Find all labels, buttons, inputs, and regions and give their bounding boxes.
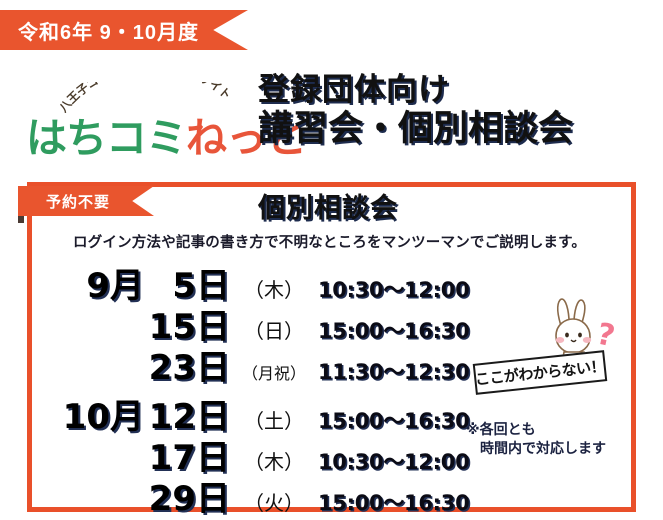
schedule-day: 23日: [144, 340, 230, 389]
schedule-time: 10:30〜12:00: [318, 446, 468, 476]
period-banner-label: 令和6年 9・10月度: [18, 16, 199, 45]
schedule-row: 23日 （月祝） 11:30〜12:30: [48, 340, 468, 381]
schedule-dayofweek: （日）: [230, 315, 318, 344]
site-logo: 八王子コミュニティ活動応援サイト はちコミねっと: [24, 82, 264, 168]
schedule-dayofweek: （火）: [230, 487, 318, 516]
ribbon-tail-icon: [18, 216, 24, 223]
schedule-row: 10月 12日 （土） 15:00〜16:30: [48, 389, 468, 430]
no-reservation-ribbon: 予約不要: [18, 186, 154, 216]
schedule-time: 15:00〜16:30: [318, 487, 468, 517]
schedule-month: 9月: [48, 258, 144, 307]
page-title: 登録団体向け 講習会・個別相談会: [258, 74, 658, 149]
logo-wordmark-part1: はちコミ: [26, 114, 186, 162]
schedule-dayofweek: （月祝）: [230, 360, 318, 384]
schedule-time: 15:00〜16:30: [318, 315, 468, 345]
footnote: ※各回とも 時間内で対応します: [466, 421, 606, 459]
schedule-month: 10月: [48, 389, 144, 438]
page-title-line1: 登録団体向け: [258, 74, 658, 107]
schedule-row: 9月 5日 （木） 10:30〜12:00: [48, 258, 468, 299]
flyer-page: 令和6年 9・10月度 八王子コミュニティ活動応援サイト はちコミねっと 登録団…: [0, 0, 663, 518]
period-banner: 令和6年 9・10月度: [0, 10, 248, 50]
no-reservation-badge: 予約不要: [18, 186, 158, 216]
no-reservation-label: 予約不要: [46, 191, 110, 212]
footnote-line1: ※各回とも: [466, 421, 606, 440]
schedule-dayofweek: （木）: [230, 274, 318, 303]
footnote-line2: 時間内で対応します: [466, 440, 606, 459]
schedule-time: 11:30〜12:30: [318, 356, 468, 386]
page-title-line2: 講習会・個別相談会: [258, 111, 658, 149]
schedule-dayofweek: （木）: [230, 446, 318, 475]
schedule-time: 10:30〜12:00: [318, 274, 468, 304]
schedule-day: 29日: [144, 471, 230, 520]
schedule-row: 29日 （火） 15:00〜16:30: [48, 471, 468, 512]
section-description: ログイン方法や記事の書き方で不明なところをマンツーマンでご説明します。: [73, 231, 586, 252]
section-heading: 個別相談会: [258, 186, 398, 225]
schedule-dayofweek: （土）: [230, 405, 318, 434]
schedule-list: 9月 5日 （木） 10:30〜12:00 15日 （日） 15:00〜16:3…: [48, 258, 468, 512]
schedule-time: 15:00〜16:30: [318, 405, 468, 435]
